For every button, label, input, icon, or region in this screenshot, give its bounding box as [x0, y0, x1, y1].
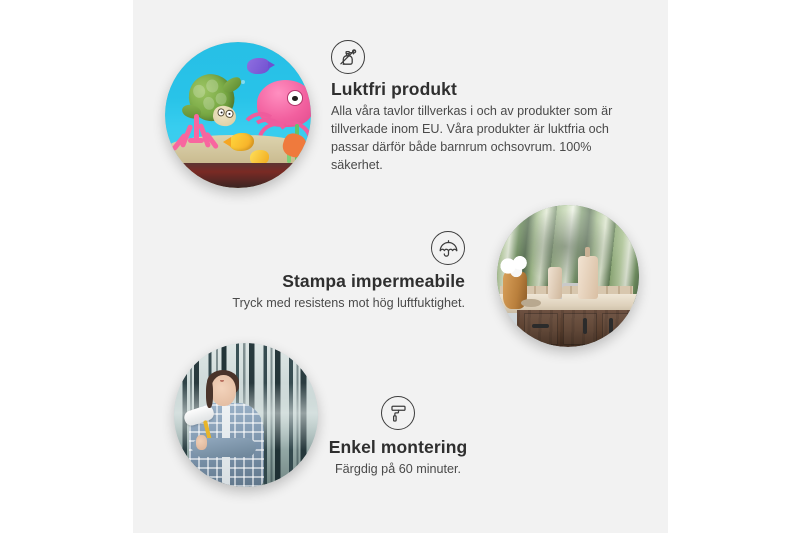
no-fragrance-icon	[331, 40, 365, 74]
feature-title: Luktfri produkt	[331, 79, 636, 100]
feature-body: Tryck med resistens mot hög luftfuktighe…	[195, 295, 465, 313]
paint-roller-icon	[381, 396, 415, 430]
feature-mounting: Enkel montering Färgdig på 60 minuter.	[268, 396, 528, 479]
feature-title: Enkel montering	[268, 437, 528, 458]
umbrella-icon	[431, 231, 465, 265]
feature-body: Färgdig på 60 minuter.	[268, 461, 528, 479]
product-image-bathroom	[497, 205, 639, 347]
product-feature-infographic: Luktfri produkt Alla våra tavlor tillver…	[0, 0, 800, 533]
feature-title: Stampa impermeabile	[195, 271, 465, 292]
feature-waterproof: Stampa impermeabile Tryck med resistens …	[195, 231, 465, 313]
feature-body: Alla våra tavlor tillverkas i och av pro…	[331, 103, 627, 175]
product-image-underwater	[165, 42, 311, 188]
feature-odourless: Luktfri produkt Alla våra tavlor tillver…	[331, 40, 636, 175]
